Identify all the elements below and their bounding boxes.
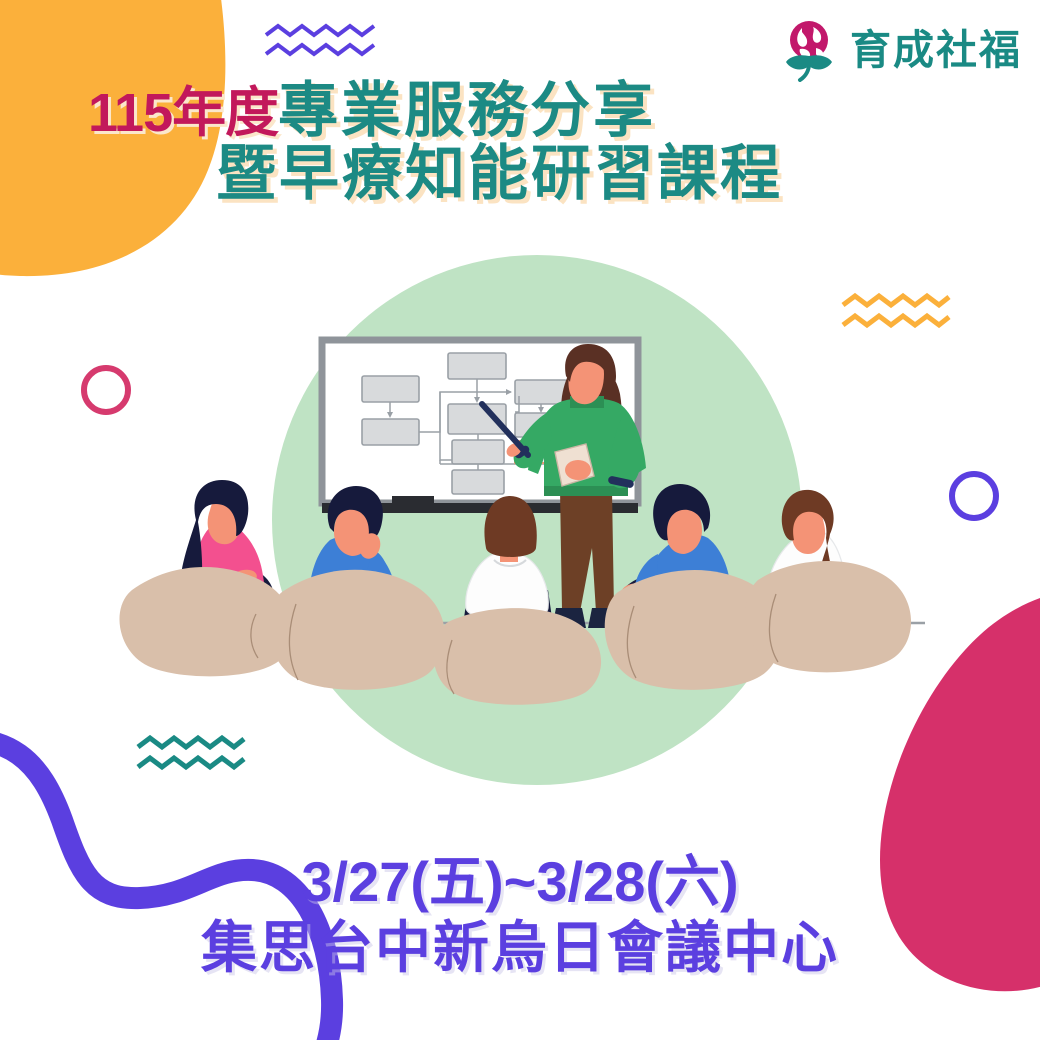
title-main-line2: 暨早療知能研習課程 (216, 140, 783, 207)
year-badge: 115年度 (88, 83, 278, 143)
title-main-line1: 專業服務分享 (278, 77, 656, 144)
presenter-sweater-hem (544, 486, 628, 496)
beanbag-3 (433, 608, 601, 705)
event-venue: 集思台中新烏日會議中心 (0, 914, 1040, 982)
flower-globe-logo-icon (778, 18, 840, 82)
brand-logo: 育成社福 (778, 18, 1022, 82)
presenter-hand-right (565, 460, 591, 480)
whiteboard-tray-block (392, 496, 434, 507)
poster-footer: 3/27(五)~3/28(六) 集思台中新烏日會議中心 (0, 850, 1040, 983)
org-name: 育成社福 (850, 30, 1022, 71)
poster-canvas: 育成社福 115年度專業服務分享 暨早療知能研習課程 3/27(五)~3/28(… (0, 0, 1040, 1040)
title-line-2: 暨早療知能研習課程 (216, 143, 988, 204)
event-date: 3/27(五)~3/28(六) (0, 850, 1040, 914)
title-line-1: 115年度專業服務分享 (88, 80, 988, 141)
title-group: 115年度專業服務分享 暨早療知能研習課程 (88, 80, 988, 204)
poster-header: 育成社福 115年度專業服務分享 暨早療知能研習課程 (0, 0, 1040, 230)
